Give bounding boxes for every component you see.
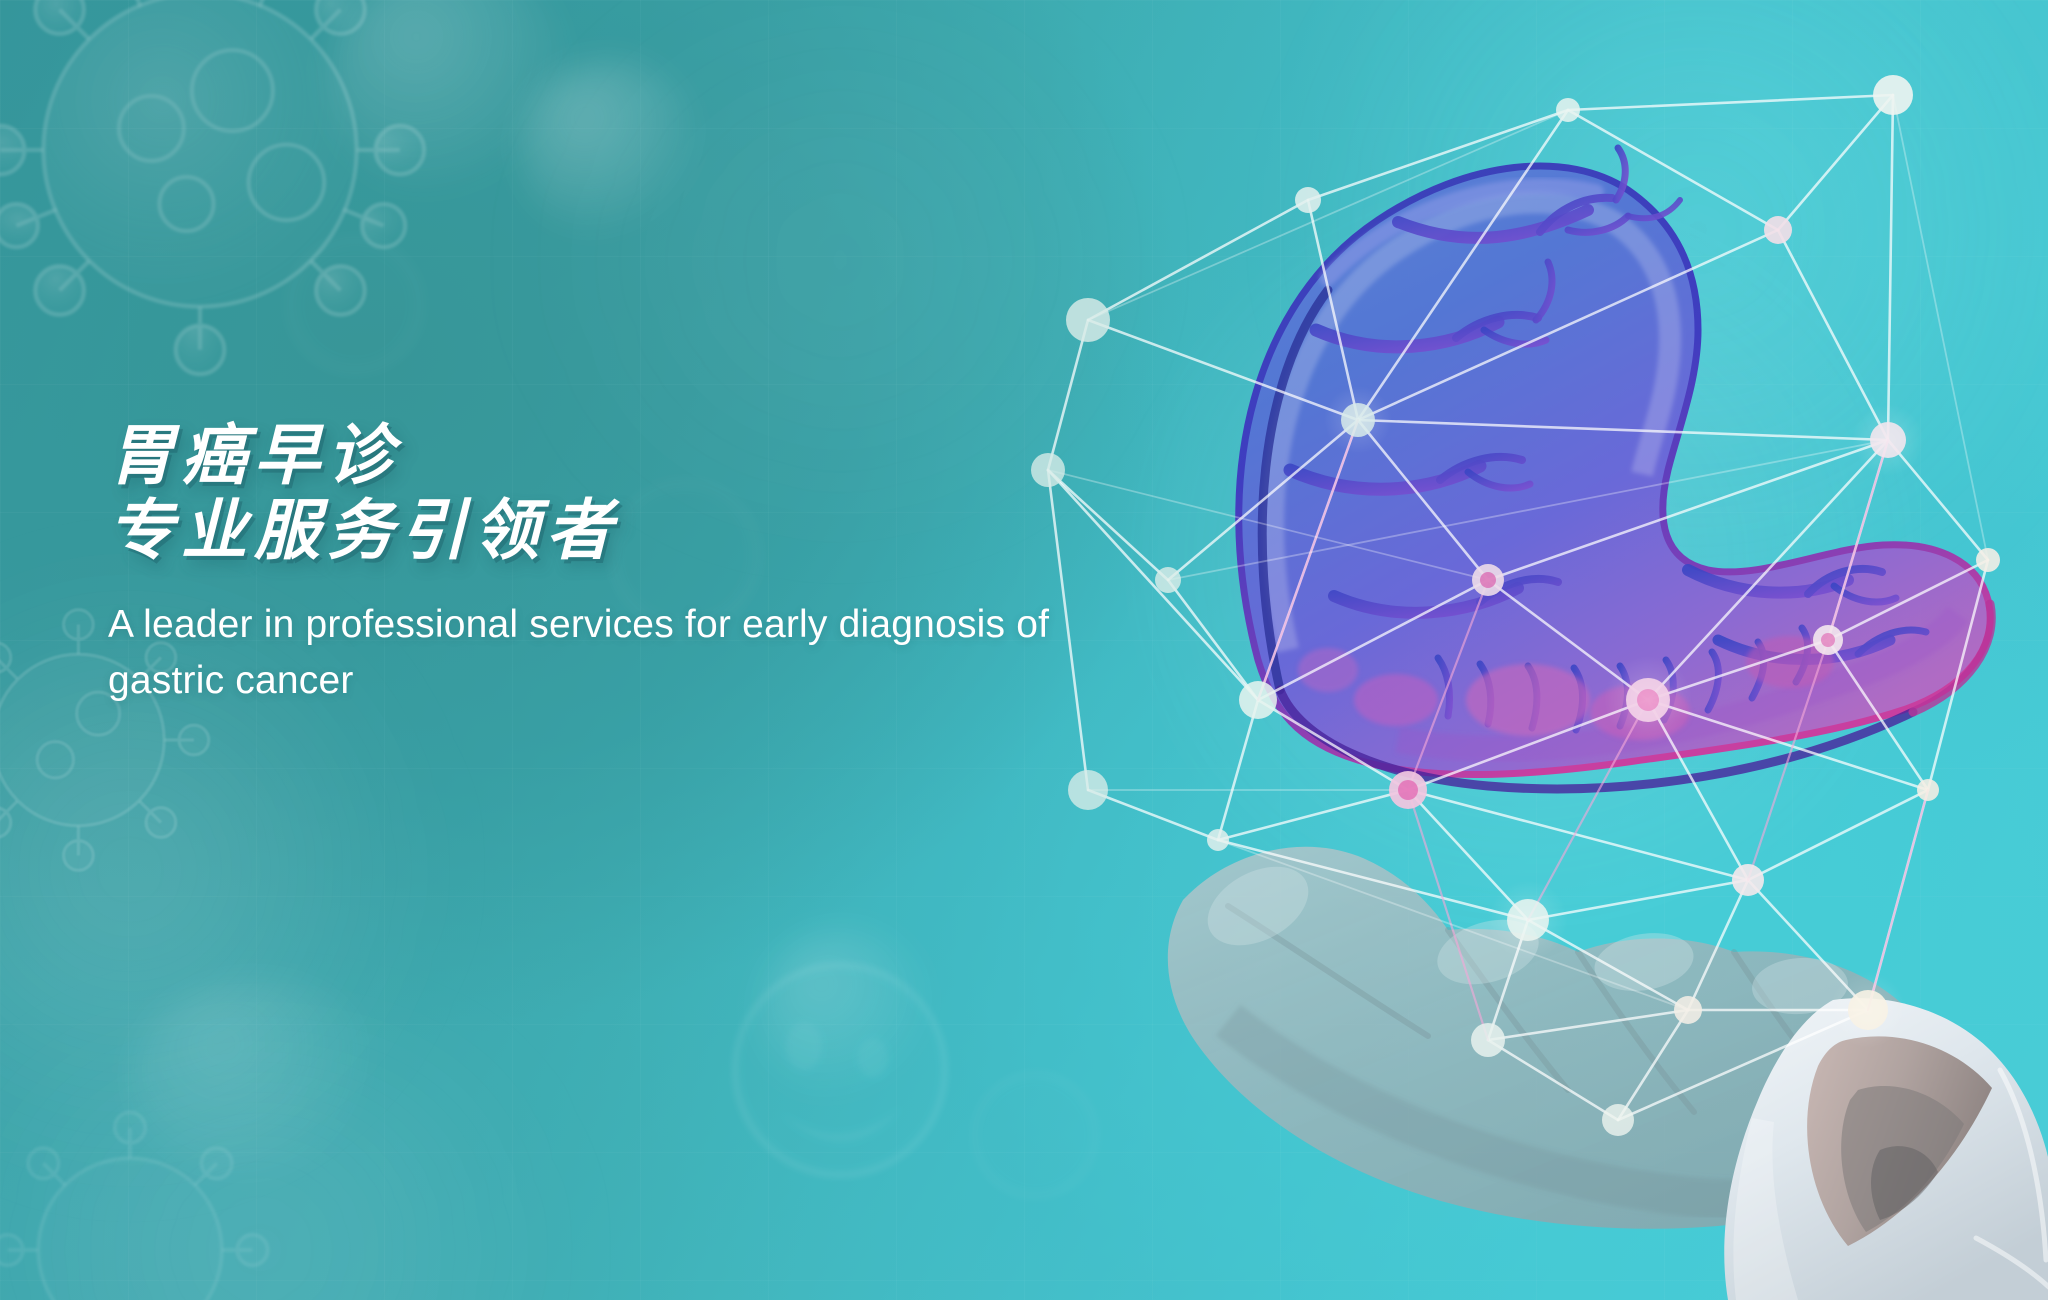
- light-bloom: [1248, 0, 2048, 580]
- cell-blob-icon: [520, 60, 700, 240]
- headline-line-2: 专业服务引领者: [108, 493, 1108, 568]
- cell-blob-icon: [690, 920, 990, 1220]
- network-mesh-icon: [1048, 95, 1988, 1120]
- lab-coat-sleeve-icon: [1724, 998, 2048, 1300]
- cell-blob-icon: [250, 200, 460, 410]
- hero-banner: 胃癌早诊 专业服务引领者 A leader in professional se…: [0, 0, 2048, 1300]
- cell-blob-icon: [330, 0, 570, 200]
- virus-particle-icon: [0, 0, 470, 420]
- headline-line-1: 胃癌早诊: [108, 418, 400, 492]
- page-title: 胃癌早诊 专业服务引领者: [108, 418, 1108, 567]
- stomach-organ-icon: [1239, 148, 1992, 789]
- hero-copy-block: 胃癌早诊 专业服务引领者 A leader in professional se…: [108, 418, 1108, 708]
- cell-blob-icon: [760, 930, 930, 1100]
- network-node-group: [1031, 75, 2000, 1136]
- hero-subtitle: A leader in professional services for ea…: [108, 597, 1108, 708]
- cell-blob-icon: [940, 1040, 1130, 1230]
- cell-blob-icon: [130, 980, 390, 1180]
- open-hand-icon: [1168, 847, 1940, 1229]
- virus-particle-icon: [0, 1080, 300, 1300]
- light-bloom: [0, 1040, 640, 1300]
